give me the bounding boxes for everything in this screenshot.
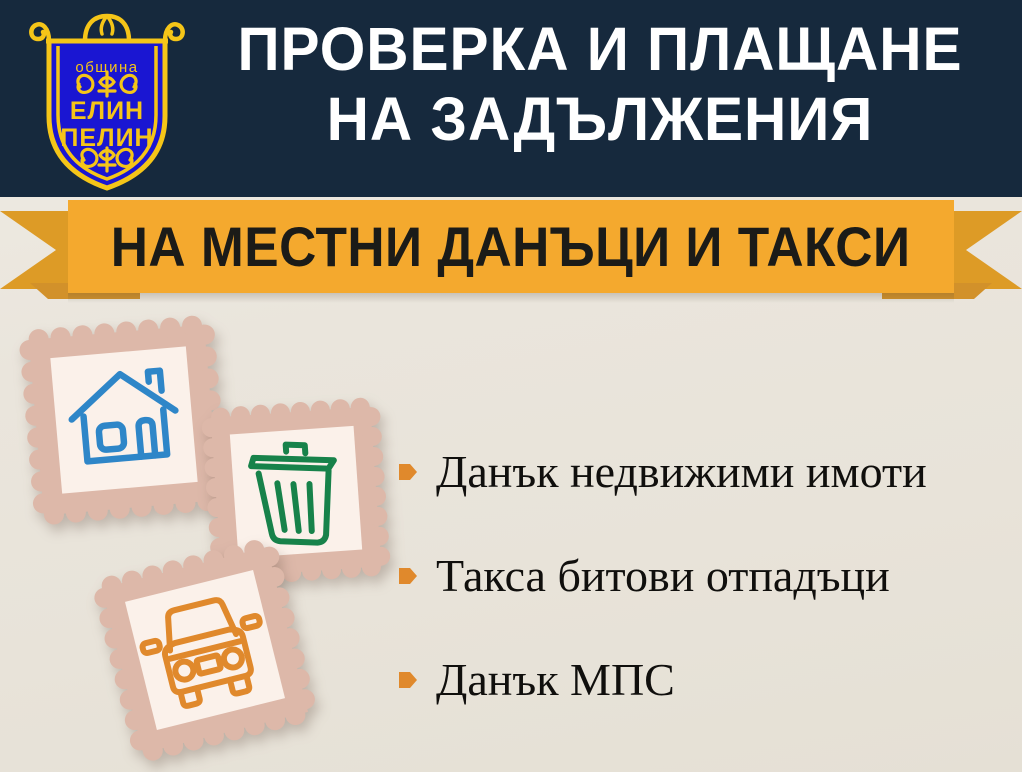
header-title-block: ПРОВЕРКА И ПЛАЩАНЕ НА ЗАДЪЛЖЕНИЯ: [190, 14, 1010, 154]
ribbon-shadow: [68, 293, 954, 303]
list-item[interactable]: Данък недвижими имоти: [398, 420, 1008, 524]
arrow-bullet-icon: [398, 460, 418, 484]
list-item-label: Данък недвижими имоти: [436, 447, 927, 497]
arrow-bullet-icon: [398, 564, 418, 588]
list-item[interactable]: Такса битови отпадъци: [398, 524, 1008, 628]
emblem-shield-icon: община ЕЛИН ПЕЛИН: [22, 8, 192, 193]
tax-types-list: Данък недвижими имоти Такса битови отпад…: [398, 420, 1008, 732]
stamp-card-vehicle: [85, 530, 325, 770]
page-title-line-2: НА ЗАДЪЛЖЕНИЯ: [206, 84, 993, 154]
page-title-line-1: ПРОВЕРКА И ПЛАЩАНЕ: [206, 14, 993, 84]
poster-canvas: ПРОВЕРКА И ПЛАЩАНЕ НА ЗАДЪЛЖЕНИЯ община: [0, 0, 1022, 772]
ribbon-banner: НА МЕСТНИ ДАНЪЦИ И ТАКСИ: [0, 197, 1022, 302]
ribbon-text: НА МЕСТНИ ДАНЪЦИ И ТАКСИ: [111, 218, 911, 276]
list-item-label: Данък МПС: [436, 655, 675, 705]
municipality-emblem: община ЕЛИН ПЕЛИН: [22, 8, 192, 193]
list-item-label: Такса битови отпадъци: [436, 551, 890, 601]
ribbon-panel: НА МЕСТНИ ДАНЪЦИ И ТАКСИ: [68, 200, 954, 293]
arrow-bullet-icon: [398, 668, 418, 692]
emblem-name-line-1: ЕЛИН: [70, 97, 144, 125]
list-item[interactable]: Данък МПС: [398, 628, 1008, 732]
